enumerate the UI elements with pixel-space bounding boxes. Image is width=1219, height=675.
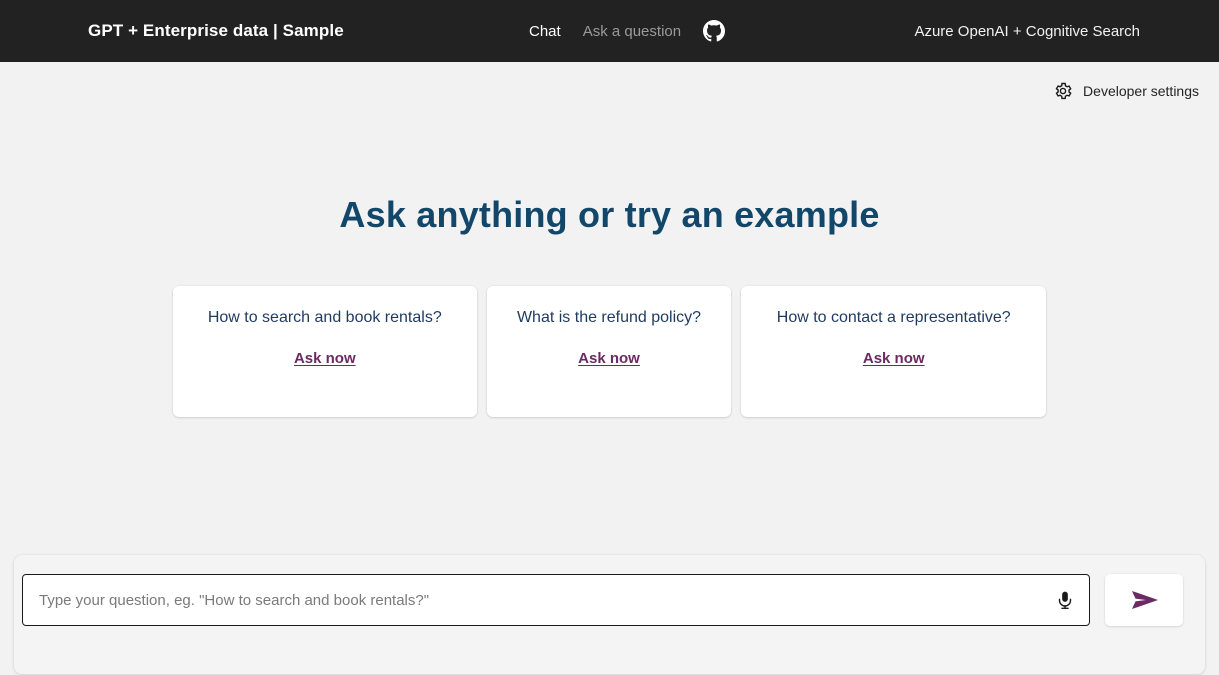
- page-title: Ask anything or try an example: [339, 194, 879, 236]
- example-question: What is the refund policy?: [517, 308, 701, 328]
- header-right-label: Azure OpenAI + Cognitive Search: [914, 0, 1140, 62]
- gear-icon: [1052, 80, 1074, 102]
- ask-now-link[interactable]: Ask now: [578, 350, 640, 367]
- app-header: GPT + Enterprise data | Sample Chat Ask …: [0, 0, 1219, 62]
- page-body: Developer settings Ask anything or try a…: [0, 62, 1219, 675]
- example-list: How to search and book rentals? Ask now …: [173, 286, 1046, 417]
- chat-empty-state: Ask anything or try an example How to se…: [0, 120, 1219, 555]
- example-question: How to contact a representative?: [777, 308, 1011, 328]
- nav-link-chat[interactable]: Chat: [529, 24, 561, 39]
- ask-now-link[interactable]: Ask now: [294, 350, 356, 367]
- github-icon[interactable]: [703, 20, 725, 42]
- nav-link-ask-a-question[interactable]: Ask a question: [583, 24, 681, 39]
- developer-settings-label: Developer settings: [1083, 83, 1199, 99]
- settings-row: Developer settings: [0, 62, 1219, 120]
- question-input[interactable]: [22, 574, 1090, 626]
- microphone-button[interactable]: [1050, 585, 1080, 615]
- app-title: GPT + Enterprise data | Sample: [88, 21, 344, 41]
- question-field: [22, 574, 1090, 626]
- example-question: How to search and book rentals?: [208, 308, 442, 328]
- example-card[interactable]: What is the refund policy? Ask now: [487, 286, 732, 417]
- example-card[interactable]: How to contact a representative? Ask now: [741, 286, 1046, 417]
- developer-settings-button[interactable]: Developer settings: [1050, 76, 1201, 106]
- ask-now-link[interactable]: Ask now: [863, 350, 925, 367]
- header-nav: Chat Ask a question: [529, 0, 725, 62]
- question-input-panel: [14, 555, 1205, 674]
- send-button[interactable]: [1105, 574, 1183, 626]
- question-input-panel-wrap: [0, 555, 1219, 674]
- example-card[interactable]: How to search and book rentals? Ask now: [173, 286, 477, 417]
